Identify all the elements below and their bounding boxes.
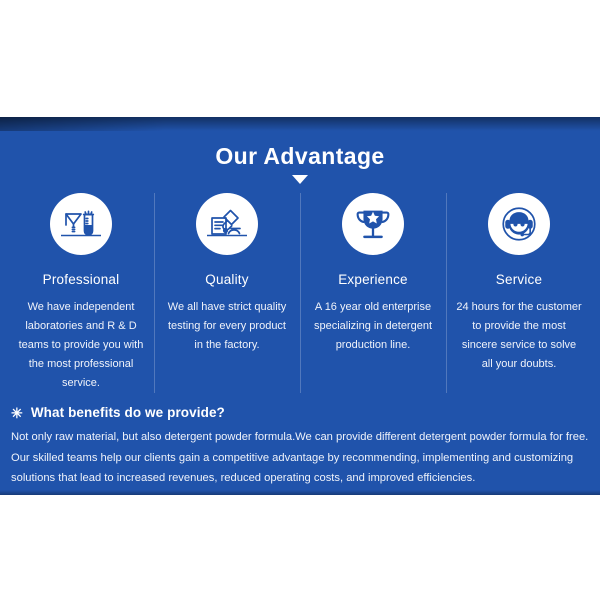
feature-item-experience: Experience A 16 year old enterprise spec… [300,193,446,393]
feature-title: Quality [164,272,290,287]
feature-title: Professional [18,272,144,287]
advantage-banner-page: Our Advantage [0,0,600,600]
feature-list: Professional We have independent laborat… [8,193,592,393]
benefits-section: ✳ What benefits do we provide? Not only … [11,405,589,489]
advantage-panel: Our Advantage [0,117,600,495]
feature-item-quality: Quality We all have strict quality testi… [154,193,300,393]
feature-description: We have independent laboratories and R &… [18,298,144,393]
page-title: Our Advantage [0,143,600,170]
microscope-document-icon [196,193,258,255]
feature-title: Experience [310,272,436,287]
feature-title: Service [456,272,582,287]
feature-item-professional: Professional We have independent laborat… [8,193,154,393]
feature-description: A 16 year old enterprise specializing in… [310,298,436,355]
feature-description: We all have strict quality testing for e… [164,298,290,355]
trophy-star-icon [342,193,404,255]
caret-down-icon [292,175,308,184]
panel-bottom-shadow [0,490,600,495]
star-icon: ✳ [11,406,23,420]
feature-item-service: Service 24 hours for the customer to pro… [446,193,592,393]
benefits-heading-label: What benefits do we provide? [31,405,225,420]
lab-flask-test-tube-icon [50,193,112,255]
feature-description: 24 hours for the customer to provide the… [456,298,582,374]
benefits-heading: ✳ What benefits do we provide? [11,405,589,420]
panel-top-shadow [0,117,600,131]
benefits-body-text: Not only raw material, but also detergen… [11,427,589,489]
headset-support-face-icon [488,193,550,255]
